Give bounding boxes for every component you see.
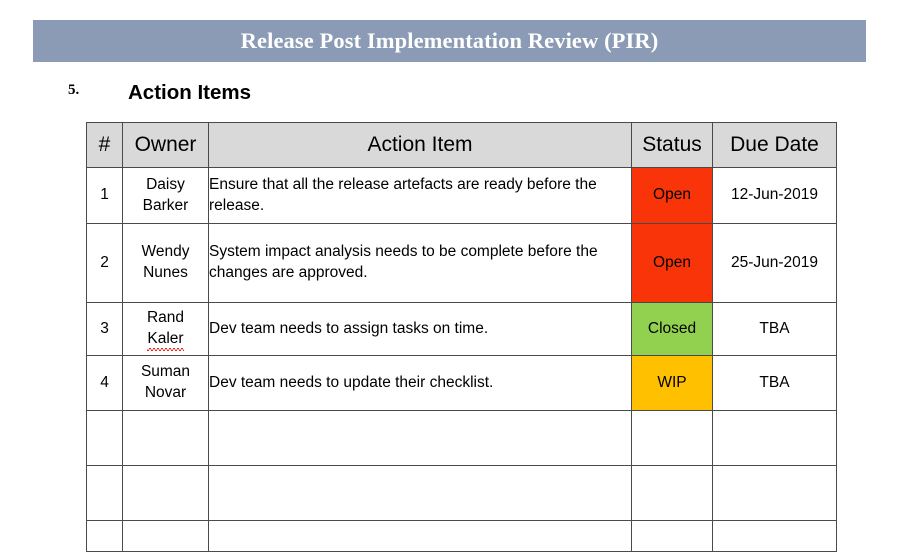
cell-owner: Rand Kaler <box>123 303 209 356</box>
cell-due-date: 12-Jun-2019 <box>713 168 837 224</box>
action-items-table-wrap: # Owner Action Item Status Due Date 1 Da… <box>86 122 836 552</box>
cell-action-item <box>209 466 632 521</box>
cell-due-date <box>713 521 837 552</box>
document-page: Release Post Implementation Review (PIR)… <box>0 0 900 541</box>
table-row-empty[interactable] <box>87 411 837 466</box>
cell-due-date: TBA <box>713 356 837 411</box>
cell-due-date: 25-Jun-2019 <box>713 224 837 303</box>
cell-owner <box>123 521 209 552</box>
cell-status: Closed <box>632 303 713 356</box>
cell-status <box>632 466 713 521</box>
cell-owner <box>123 411 209 466</box>
cell-action-item: Dev team needs to assign tasks on time. <box>209 303 632 356</box>
owner-first-name: Daisy <box>123 175 208 196</box>
cell-action-item <box>209 521 632 552</box>
cell-number <box>87 466 123 521</box>
owner-first-name: Wendy <box>123 242 208 263</box>
table-header-row: # Owner Action Item Status Due Date <box>87 123 837 168</box>
cell-owner: Suman Novar <box>123 356 209 411</box>
table-body: 1 Daisy Barker Ensure that all the relea… <box>87 168 837 552</box>
cell-owner <box>123 466 209 521</box>
cell-status: Open <box>632 168 713 224</box>
table-row[interactable]: 3 Rand Kaler Dev team needs to assign ta… <box>87 303 837 356</box>
owner-last-name-misspelled: Kaler <box>123 329 208 351</box>
cell-number <box>87 521 123 552</box>
table-row-empty[interactable] <box>87 521 837 552</box>
column-header-number: # <box>87 123 123 168</box>
cell-owner: Wendy Nunes <box>123 224 209 303</box>
column-header-owner: Owner <box>123 123 209 168</box>
section-title: Action Items <box>128 79 251 107</box>
section-number: 5. <box>68 83 79 98</box>
cell-number: 4 <box>87 356 123 411</box>
owner-last-name: Novar <box>123 383 208 404</box>
table-row[interactable]: 1 Daisy Barker Ensure that all the relea… <box>87 168 837 224</box>
cell-due-date: TBA <box>713 303 837 356</box>
cell-action-item: System impact analysis needs to be compl… <box>209 224 632 303</box>
cell-due-date <box>713 466 837 521</box>
column-header-due-date: Due Date <box>713 123 837 168</box>
cell-number <box>87 411 123 466</box>
cell-status: WIP <box>632 356 713 411</box>
cell-status <box>632 521 713 552</box>
owner-first-name: Rand <box>123 308 208 329</box>
cell-due-date <box>713 411 837 466</box>
owner-last-name: Barker <box>123 196 208 217</box>
table-row[interactable]: 2 Wendy Nunes System impact analysis nee… <box>87 224 837 303</box>
column-header-action-item: Action Item <box>209 123 632 168</box>
cell-status <box>632 411 713 466</box>
cell-owner: Daisy Barker <box>123 168 209 224</box>
cell-number: 3 <box>87 303 123 356</box>
cell-status: Open <box>632 224 713 303</box>
table-row-empty[interactable] <box>87 466 837 521</box>
cell-number: 2 <box>87 224 123 303</box>
cell-number: 1 <box>87 168 123 224</box>
column-header-status: Status <box>632 123 713 168</box>
table-row[interactable]: 4 Suman Novar Dev team needs to update t… <box>87 356 837 411</box>
document-title: Release Post Implementation Review (PIR) <box>241 30 659 53</box>
section-heading: 5. Action Items <box>68 79 768 109</box>
cell-action-item: Dev team needs to update their checklist… <box>209 356 632 411</box>
cell-action-item <box>209 411 632 466</box>
action-items-table: # Owner Action Item Status Due Date 1 Da… <box>86 122 837 552</box>
table-header: # Owner Action Item Status Due Date <box>87 123 837 168</box>
cell-action-item: Ensure that all the release artefacts ar… <box>209 168 632 224</box>
owner-last-name: Nunes <box>123 263 208 284</box>
owner-first-name: Suman <box>123 362 208 383</box>
document-title-banner: Release Post Implementation Review (PIR) <box>33 20 866 62</box>
spellcheck-underline: Kaler <box>147 329 183 351</box>
